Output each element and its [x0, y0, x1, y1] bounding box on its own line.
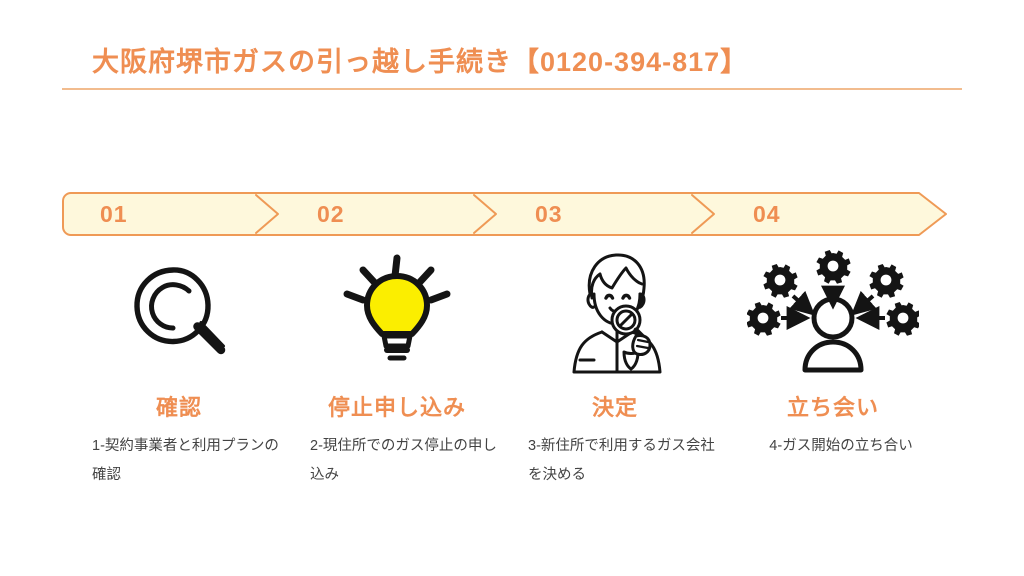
step-heading-2: 停止申し込み: [288, 390, 506, 422]
gear-top-icon: [816, 250, 850, 284]
page-title: 大阪府堺市ガスの引っ越し手続き【0120-394-817】: [92, 40, 748, 79]
step-heading-1: 確認: [70, 390, 288, 422]
banner-number-01: 01: [100, 201, 128, 228]
lightbulb-icon: [288, 244, 506, 380]
step-description-2: 2-現住所でのガス停止の申し込み: [310, 432, 506, 490]
step-description-1: 1-契約事業者と利用プランの確認: [92, 432, 288, 490]
step-progress-banner: 01 02 03 04: [62, 192, 948, 236]
gears-person-icon: [724, 244, 942, 380]
step-description-4: 4-ガス開始の立ち合い: [736, 432, 946, 461]
step-item-4: 立ち会い 4-ガス開始の立ち合い: [724, 244, 942, 514]
step-heading-4: 立ち会い: [724, 390, 942, 422]
magnifying-glass-icon: [70, 244, 288, 380]
step-item-3: 決定 3-新住所で利用するガス会社を決める: [506, 244, 724, 514]
step-item-2: 停止申し込み 2-現住所でのガス停止の申し込み: [288, 244, 506, 514]
step-description-3: 3-新住所で利用するガス会社を決める: [528, 432, 724, 490]
gear-upper-left-icon: [763, 264, 797, 298]
step-heading-3: 決定: [506, 390, 724, 422]
header-divider: [62, 88, 962, 90]
gear-right-icon: [886, 302, 919, 336]
steps-container: 確認 1-契約事業者と利用プランの確認: [62, 244, 962, 514]
banner-number-04: 04: [753, 201, 781, 228]
banner-number-03: 03: [535, 201, 563, 228]
person-inspector-icon: [506, 244, 724, 380]
page-header: 大阪府堺市ガスの引っ越し手続き【0120-394-817】: [0, 0, 1024, 100]
gear-left-icon: [747, 302, 781, 336]
step-item-1: 確認 1-契約事業者と利用プランの確認: [70, 244, 288, 514]
gear-upper-right-icon: [869, 264, 903, 298]
banner-number-02: 02: [317, 201, 345, 228]
